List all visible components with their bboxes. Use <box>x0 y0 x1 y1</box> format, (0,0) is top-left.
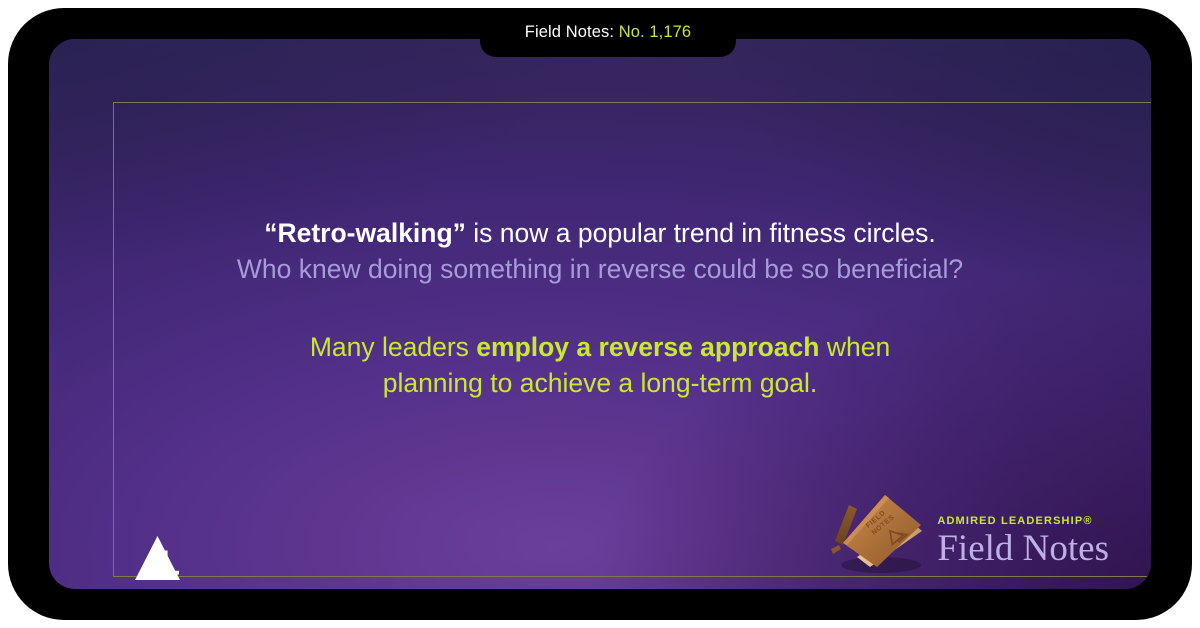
header-label: Field Notes: <box>525 23 614 41</box>
reverse-approach-emphasis: employ a reverse approach <box>476 332 819 362</box>
brand-text: ADMIRED LEADERSHIP® Field Notes <box>937 516 1109 575</box>
paragraph-two-line-two: planning to achieve a long-term goal. <box>109 365 1091 401</box>
paragraph-two-post: when <box>819 332 890 362</box>
paragraph-spacer <box>109 287 1091 329</box>
header-title: Field Notes: No. 1,176 <box>525 24 691 41</box>
paragraph-two: Many leaders employ a reverse approach w… <box>109 329 1091 401</box>
paragraph-one-line-one: “Retro-walking” is now a popular trend i… <box>109 215 1091 251</box>
brand-name: Field Notes <box>937 530 1109 567</box>
header-tab: Field Notes: No. 1,176 <box>480 8 736 57</box>
brand-lockup: FIELD NOTES ADMIRED LEADERSHIP® Field No… <box>827 487 1109 575</box>
device-frame: “Retro-walking” is now a popular trend i… <box>8 8 1192 620</box>
paragraph-one-line-two: Who knew doing something in reverse coul… <box>109 251 1091 287</box>
brand-kicker: ADMIRED LEADERSHIP® <box>937 516 1092 527</box>
al-monogram-icon <box>132 534 190 586</box>
paragraph-one-line-one-rest: is now a popular trend in fitness circle… <box>466 218 936 248</box>
paragraph-two-pre: Many leaders <box>310 332 476 362</box>
paragraph-one: “Retro-walking” is now a popular trend i… <box>109 215 1091 287</box>
notebook-icon: FIELD NOTES <box>827 487 931 575</box>
note-card: “Retro-walking” is now a popular trend i… <box>49 39 1151 589</box>
paragraph-two-line-one: Many leaders employ a reverse approach w… <box>109 329 1091 365</box>
header-number: No. 1,176 <box>619 23 691 41</box>
retro-walking-term: “Retro-walking” <box>264 218 466 248</box>
note-message: “Retro-walking” is now a popular trend i… <box>49 215 1151 401</box>
